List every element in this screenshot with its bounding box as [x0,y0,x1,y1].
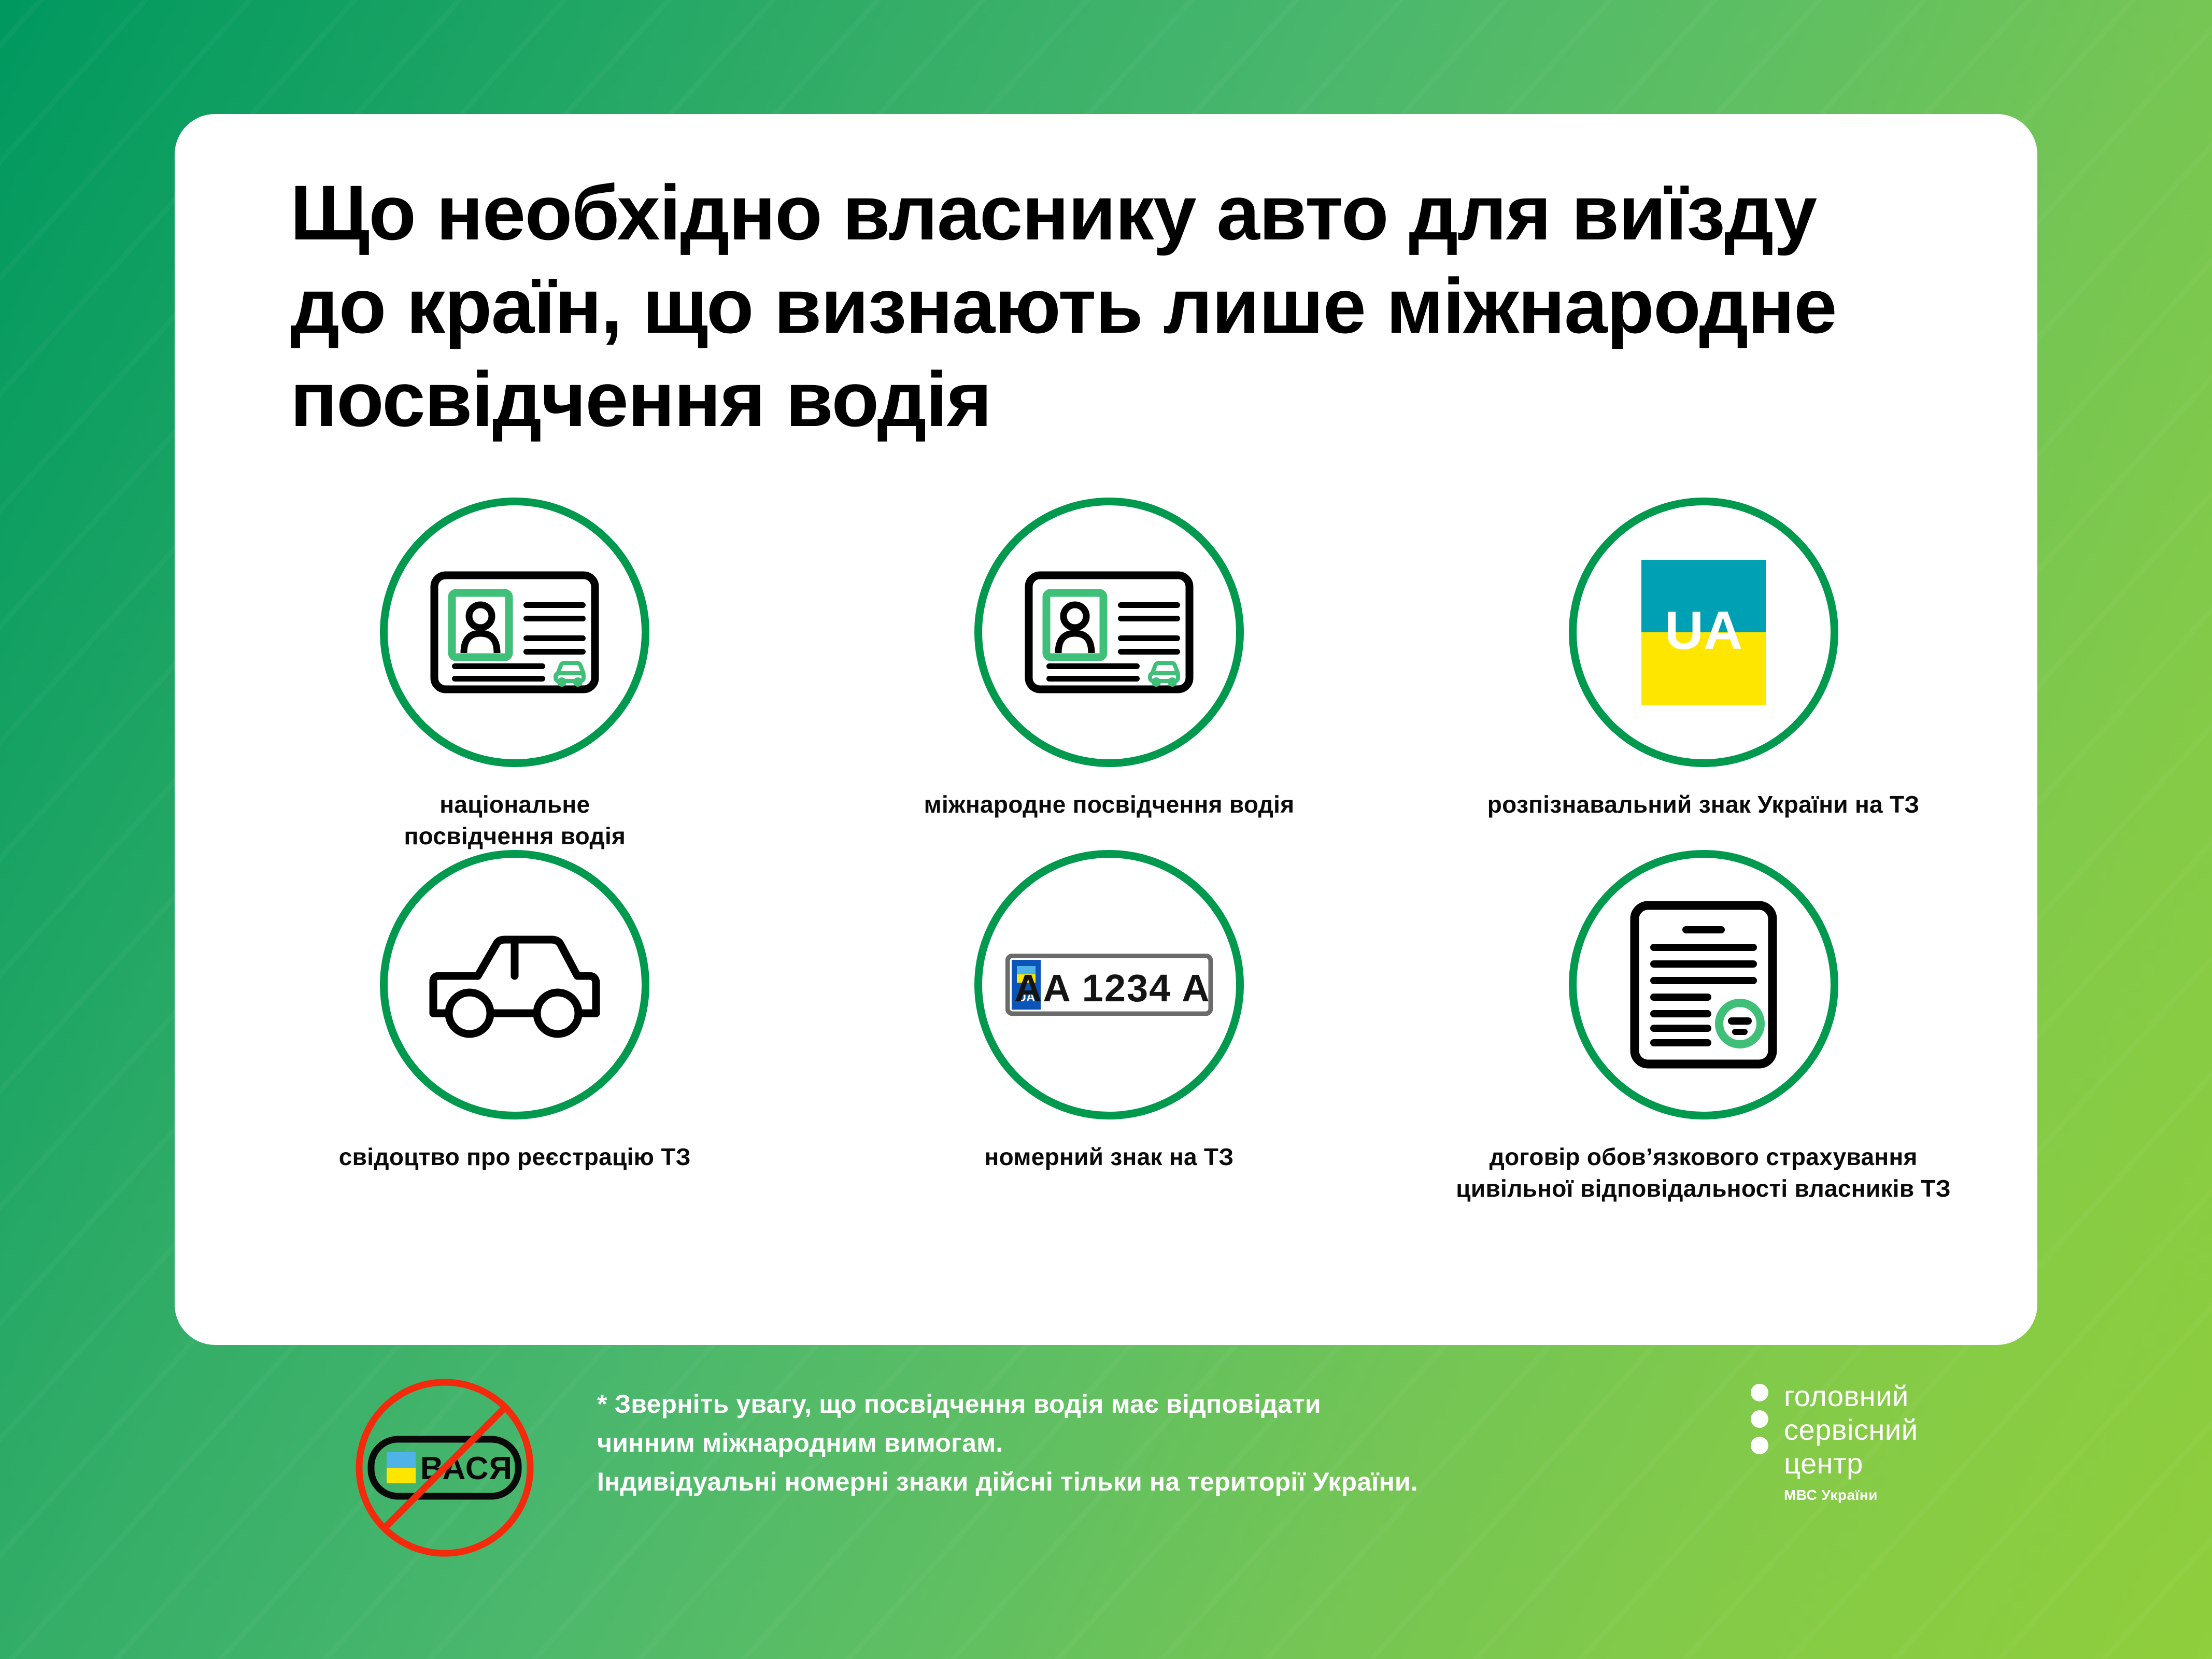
title-line-2: до країн, що визнають лише міжнародне [290,259,2001,352]
logo-dot-3 [1751,1437,1768,1454]
insurance-contract-icon [1628,899,1779,1070]
caption-line-1: свідоцтво про реєстрацію ТЗ [339,1141,691,1173]
logo-dot-2 [1751,1410,1768,1428]
license-plate-icon: UA AA 1234 AB [1005,954,1213,1016]
page-title: Що необхідно власнику авто для виїзду до… [290,166,2001,446]
grid-item-registration-certificate: свідоцтво про реєстрацію ТЗ [218,850,812,1202]
item-caption: національне посвідчення водія [404,789,626,852]
grid-item-ua-sticker: UA розпізнавальний знак України на ТЗ [1406,498,2001,850]
international-driver-license-icon [1024,570,1195,694]
ua-country-sticker-icon: UA [1631,555,1776,710]
grid-item-insurance-contract: договір обов’язкового страхування цивіль… [1406,850,2001,1202]
item-caption: договір обов’язкового страхування цивіль… [1456,1141,1951,1204]
ua-sticker-text: UA [1665,601,1742,661]
plate-number-text: AA 1234 AB [1014,967,1213,1010]
prohibited-custom-plate-icon: ВАСЯ [346,1369,543,1566]
caption-line-1: номерний знак на ТЗ [985,1141,1234,1173]
icon-circle: UA [1569,498,1838,767]
title-line-1: Що необхідно власнику авто для виїзду [290,166,2001,259]
caption-line-1: розпізнавальний знак України на ТЗ [1487,789,1920,820]
icon-circle [974,498,1244,767]
caption-line-1: договір обов’язкового страхування [1456,1141,1951,1173]
caption-line-2: посвідчення водія [404,820,626,852]
icon-circle [380,850,649,1119]
item-caption: свідоцтво про реєстрацію ТЗ [339,1141,691,1173]
logo-word-2: сервісний [1784,1413,1918,1447]
footnote-text: * Зверніть увагу, що посвідчення водія м… [597,1385,1418,1501]
logo-dot-1 [1751,1384,1768,1401]
logo-word-3: центр [1784,1447,1918,1481]
national-driver-license-icon [429,570,600,694]
footnote-line-2: чинним міжнародним вимогам. [597,1424,1418,1463]
requirements-grid: національне посвідчення водія [218,498,2001,1202]
caption-line-1: міжнародне посвідчення водія [924,789,1295,820]
grid-item-international-license: міжнародне посвідчення водія [812,498,1407,850]
item-caption: номерний знак на ТЗ [985,1141,1234,1173]
car-icon [424,925,605,1044]
item-caption: міжнародне посвідчення водія [924,789,1295,820]
logo-subtitle: МВС України [1784,1487,1918,1504]
caption-line-2: цивільної відповідальності власників ТЗ [1456,1173,1951,1204]
logo-word-1: головний [1784,1380,1918,1413]
caption-line-1: національне [404,789,626,820]
title-line-3: посвідчення водія [290,352,2001,446]
organization-logo: головний сервісний центр МВС України [1751,1380,1918,1504]
icon-circle [380,498,649,767]
footnote-line-3: Індивідуальні номерні знаки дійсні тільк… [597,1463,1418,1501]
item-caption: розпізнавальний знак України на ТЗ [1487,789,1920,820]
logo-wordmark: головний сервісний центр МВС України [1784,1380,1918,1504]
footnote-line-1: * Зверніть увагу, що посвідчення водія м… [597,1385,1418,1424]
grid-item-national-license: національне посвідчення водія [218,498,812,850]
icon-circle [1569,850,1838,1119]
icon-circle: UA AA 1234 AB [974,850,1244,1119]
grid-item-license-plate: UA AA 1234 AB номерний знак на ТЗ [812,850,1407,1202]
logo-dots-icon [1751,1384,1768,1454]
